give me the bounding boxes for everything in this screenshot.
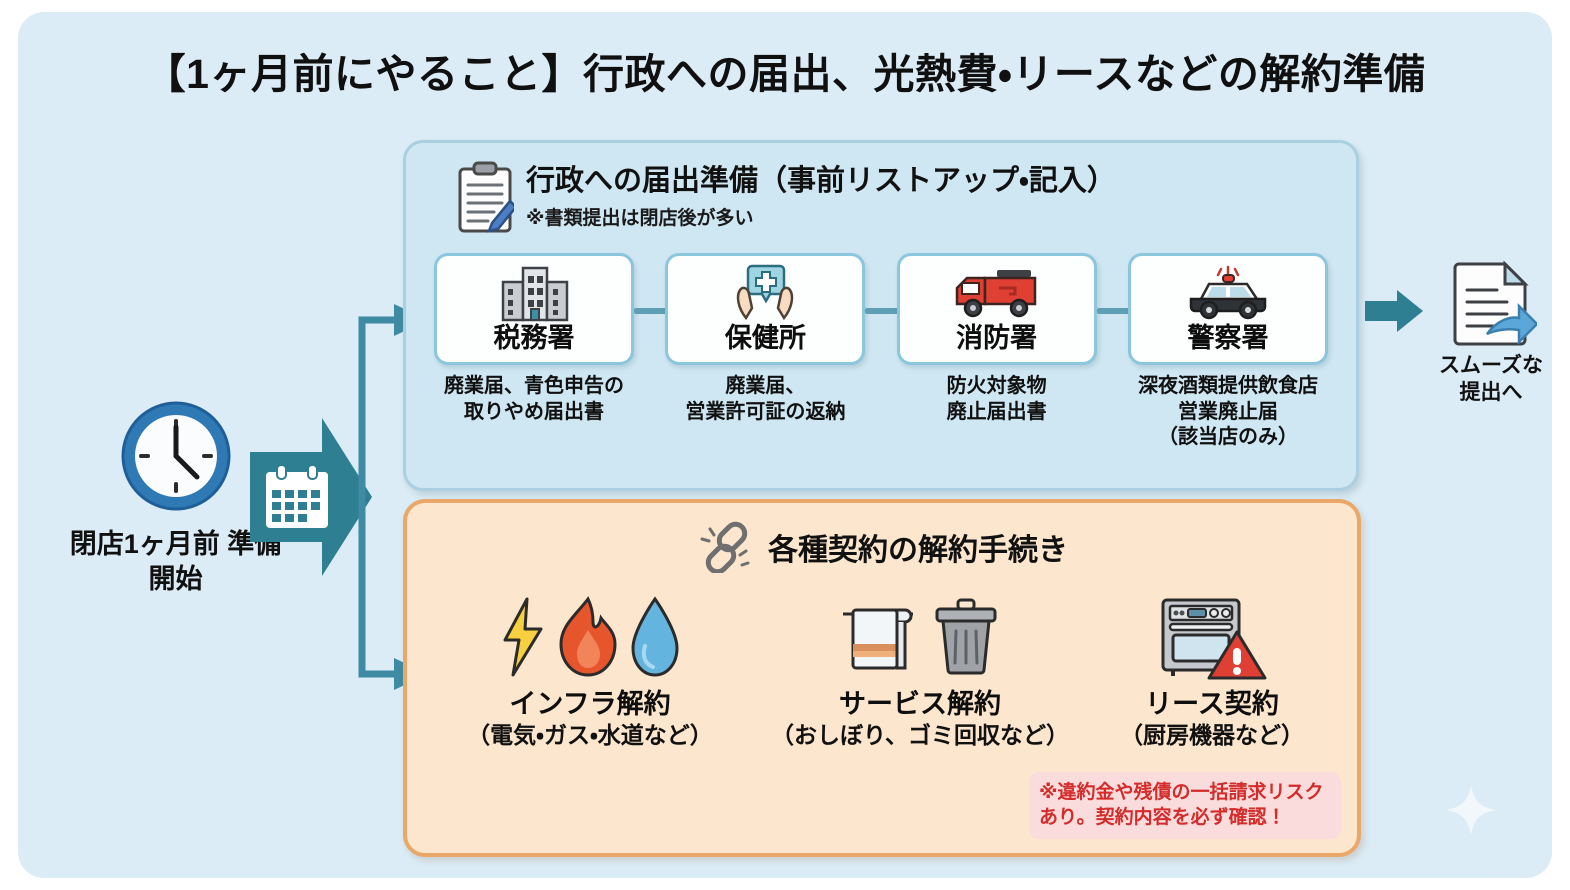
- agency-name: 保健所: [725, 325, 806, 352]
- lightning-icon: [497, 596, 549, 678]
- arrow-right-icon: [1363, 288, 1425, 334]
- agency-card-fire-department: 消防署 防火対象物 廃止届出書: [897, 253, 1097, 451]
- page-title: 【1ヶ月前にやること】行政への届出、光熱費・リースなどの解約準備: [18, 40, 1552, 100]
- item-name: サービス解約: [755, 689, 1085, 720]
- panel-note: ※書類提出は閉店後が多い: [526, 203, 1116, 230]
- agency-card-health-center: 保健所 廃業届、 営業許可証の返納: [665, 253, 865, 451]
- card-box[interactable]: 税務署: [434, 253, 634, 365]
- card-box[interactable]: 警察署: [1128, 253, 1328, 365]
- document-share-icon: [1445, 260, 1537, 348]
- sparkle-icon: [1445, 784, 1497, 836]
- item-sub: （厨房機器など）: [1085, 722, 1339, 750]
- orange-panel-header: 各種契約の解約手続き: [407, 521, 1357, 573]
- item-sub: （電気・ガス・水道など）: [425, 722, 755, 750]
- output-block: スムーズな 提出へ: [1426, 260, 1552, 407]
- oven-icon: [1157, 594, 1267, 680]
- office-building-icon: [497, 262, 571, 324]
- agency-name: 警察署: [1187, 325, 1268, 352]
- cancellation-item-list: インフラ解約 （電気・ガス・水道など）: [425, 591, 1339, 750]
- agency-card-list: 税務署 廃業届、青色申告の 取りやめ届出書 保健所: [434, 253, 1328, 451]
- clock-icon: [117, 397, 235, 515]
- output-label: スムーズな 提出へ: [1426, 352, 1552, 407]
- fire-truck-icon: [953, 262, 1041, 324]
- card-connector: [1097, 308, 1131, 314]
- card-connector: [865, 308, 899, 314]
- agency-caption: 防火対象物 廃止届出書: [897, 374, 1097, 425]
- panel-title: 行政への届出準備（事前リストアップ・記入）: [526, 165, 1116, 198]
- agency-name: 税務署: [494, 325, 575, 352]
- agency-card-tax-office: 税務署 廃業届、青色申告の 取りやめ届出書: [434, 253, 634, 451]
- towel-icon: [839, 598, 917, 676]
- cancellation-item-service: サービス解約 （おしぼり、ゴミ回収など）: [755, 591, 1085, 750]
- orange-panel-title: 各種契約の解約手続き: [768, 525, 1068, 569]
- card-connector: [634, 308, 668, 314]
- flame-icon: [555, 596, 621, 678]
- warning-note: ※違約金や残債の一括請求リスクあり。契約内容を必ず確認！: [1029, 772, 1341, 839]
- police-car-icon: [1185, 262, 1271, 324]
- infographic-canvas: 【1ヶ月前にやること】行政への届出、光熱費・リースなどの解約準備 閉店1ヶ月前 …: [18, 12, 1552, 878]
- agency-caption: 廃業届、 営業許可証の返納: [665, 374, 865, 425]
- broken-chain-icon: [696, 521, 754, 573]
- clipboard-pencil-icon: [456, 161, 514, 233]
- panel-header: 行政への届出準備（事前リストアップ・記入） ※書類提出は閉店後が多い: [456, 159, 1116, 233]
- agency-caption: 廃業届、青色申告の 取りやめ届出書: [434, 374, 634, 425]
- health-hands-icon: [732, 262, 798, 324]
- card-box[interactable]: 保健所: [665, 253, 865, 365]
- cancellation-item-infrastructure: インフラ解約 （電気・ガス・水道など）: [425, 591, 755, 750]
- administrative-filing-panel: 行政への届出準備（事前リストアップ・記入） ※書類提出は閉店後が多い: [403, 140, 1359, 491]
- item-name: インフラ解約: [425, 689, 755, 720]
- cancellation-item-lease: リース契約 （厨房機器など）: [1085, 591, 1339, 750]
- agency-caption: 深夜酒類提供飲食店 営業廃止届 （該当店のみ）: [1128, 374, 1328, 451]
- trash-bin-icon: [931, 598, 1001, 676]
- contract-cancellation-panel: 各種契約の解約手続き インフラ解約: [403, 499, 1361, 857]
- card-box[interactable]: 消防署: [897, 253, 1097, 365]
- agency-card-police-station: 警察署 深夜酒類提供飲食店 営業廃止届 （該当店のみ）: [1128, 253, 1328, 451]
- item-sub: （おしぼり、ゴミ回収など）: [755, 722, 1085, 750]
- agency-name: 消防署: [956, 325, 1037, 352]
- item-name: リース契約: [1085, 689, 1339, 720]
- water-drop-icon: [627, 596, 683, 678]
